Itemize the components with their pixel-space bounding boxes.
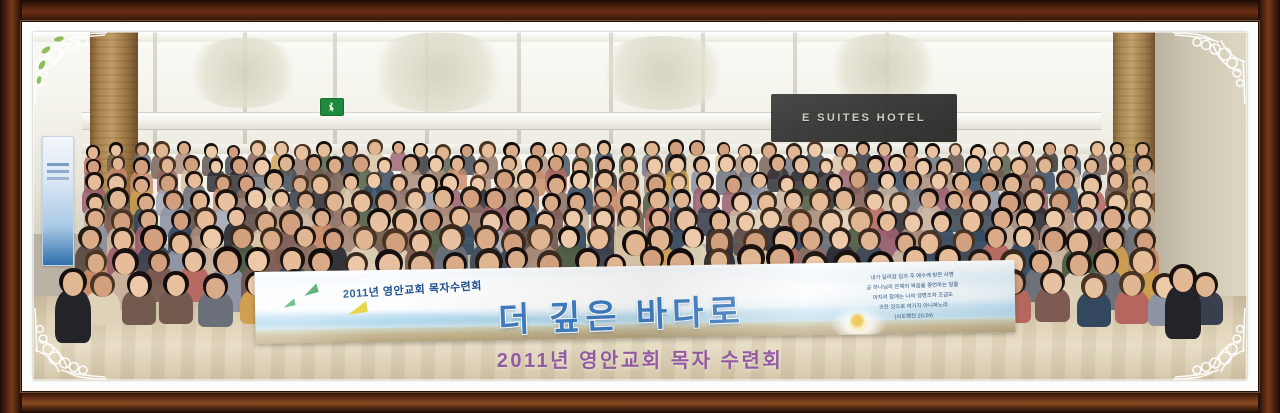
person-face xyxy=(1039,159,1051,173)
person-face xyxy=(675,193,689,208)
person-face xyxy=(135,160,148,175)
person-face xyxy=(673,176,685,189)
person-face xyxy=(368,174,380,187)
person-face xyxy=(344,144,355,157)
person-face xyxy=(174,213,188,229)
person-face xyxy=(110,191,126,209)
person-face xyxy=(423,212,440,231)
person-face xyxy=(967,158,980,173)
person-face xyxy=(1196,276,1214,297)
person-face xyxy=(727,178,740,193)
person-face xyxy=(1045,144,1055,155)
person-face xyxy=(137,145,147,156)
person-face xyxy=(1046,211,1061,229)
person-face xyxy=(487,191,503,209)
person-face xyxy=(519,173,533,189)
person-face xyxy=(948,194,961,209)
person-face xyxy=(622,175,636,191)
person-face xyxy=(646,143,657,156)
person-face xyxy=(1131,210,1148,229)
person-face xyxy=(1043,273,1061,294)
person-face xyxy=(379,160,390,173)
person-face xyxy=(326,232,342,250)
event-banner: 2011년 영안교회 목자수련회 더 깊은 바다로 내가 달려갈 길과 주 예수… xyxy=(254,260,1015,344)
person-face xyxy=(685,229,701,247)
frame-rail-left xyxy=(0,0,22,413)
person-face xyxy=(88,147,98,158)
person-face xyxy=(832,231,848,249)
person-face xyxy=(267,173,282,190)
person-face xyxy=(743,158,756,172)
person-face xyxy=(1059,173,1073,189)
person-face xyxy=(394,143,404,154)
person-face xyxy=(345,176,357,190)
person-face xyxy=(206,278,224,299)
person-face xyxy=(905,215,920,232)
person-face xyxy=(233,159,246,174)
person-face xyxy=(369,142,381,155)
person-face xyxy=(327,194,341,210)
person-face xyxy=(217,251,238,275)
person-face xyxy=(809,144,821,157)
person-face xyxy=(299,194,312,209)
person-face xyxy=(990,158,1001,171)
person xyxy=(1165,285,1201,340)
person-face xyxy=(836,191,852,210)
person-face xyxy=(880,214,895,231)
person-face xyxy=(111,145,121,156)
person-face xyxy=(906,174,919,189)
person-face xyxy=(248,190,263,207)
person-face xyxy=(135,179,147,193)
person-face xyxy=(1092,143,1103,155)
person-face xyxy=(1123,275,1141,296)
person-face xyxy=(955,175,969,191)
person-face xyxy=(561,230,577,248)
person-face xyxy=(1173,268,1193,291)
person xyxy=(55,289,91,344)
person-face xyxy=(988,229,1004,247)
person-face xyxy=(248,251,267,272)
person-face xyxy=(482,144,494,158)
person-face xyxy=(596,192,609,207)
person-face xyxy=(577,146,589,159)
person-face xyxy=(795,158,808,173)
person-face xyxy=(452,158,463,171)
group-photo: E SUITES HOTEL 2011년 영안교회 목자수련회 더 깊은 바다로… xyxy=(33,32,1247,380)
person-face xyxy=(1106,232,1122,250)
person-face xyxy=(94,276,112,297)
person-face xyxy=(430,158,442,172)
person-face xyxy=(549,178,563,194)
frame-rail-bottom xyxy=(0,391,1280,413)
person-face xyxy=(206,146,216,158)
person-face xyxy=(531,229,550,251)
person-face xyxy=(623,146,633,157)
person-face xyxy=(315,211,329,227)
banner-title: 더 깊은 바다로 xyxy=(497,284,745,342)
person-face xyxy=(879,144,889,156)
person-face xyxy=(590,229,608,249)
person-face xyxy=(1110,174,1122,188)
person-face xyxy=(275,192,288,207)
person-face xyxy=(1112,157,1124,171)
person-face xyxy=(475,162,487,175)
frame-rail-right xyxy=(1258,0,1280,413)
person-face xyxy=(329,159,342,173)
person-face xyxy=(881,174,894,189)
person-face xyxy=(82,230,99,250)
person-face xyxy=(763,211,778,229)
person-face xyxy=(1138,158,1151,172)
person-face xyxy=(772,157,784,171)
person-face xyxy=(354,157,367,172)
person-face xyxy=(982,176,996,192)
frame-rail-top xyxy=(0,0,1280,22)
person-face xyxy=(670,158,684,173)
person-face xyxy=(435,190,451,208)
person-face xyxy=(1077,211,1094,230)
person-face xyxy=(185,252,202,271)
person-face xyxy=(892,195,907,212)
person-face xyxy=(412,234,429,253)
person-face xyxy=(786,193,800,209)
person-face xyxy=(598,173,612,189)
person-face xyxy=(497,172,512,189)
person-face xyxy=(1133,251,1153,273)
photo-caption: 2011년 영안교회 목자 수련회 xyxy=(33,344,1247,373)
person-face xyxy=(203,229,221,249)
person-face xyxy=(861,232,877,250)
person-face xyxy=(1045,231,1063,252)
person-face xyxy=(162,159,174,173)
person-face xyxy=(130,276,148,297)
person-face xyxy=(1016,229,1032,247)
person-face xyxy=(867,194,882,211)
person-face xyxy=(648,159,661,173)
person-face xyxy=(1086,160,1097,172)
person-face xyxy=(63,272,83,295)
person-face xyxy=(804,174,817,189)
person-face xyxy=(599,143,610,155)
person-face xyxy=(696,159,708,173)
person-face xyxy=(404,157,417,172)
person-face xyxy=(233,229,250,249)
person-face xyxy=(185,158,197,172)
